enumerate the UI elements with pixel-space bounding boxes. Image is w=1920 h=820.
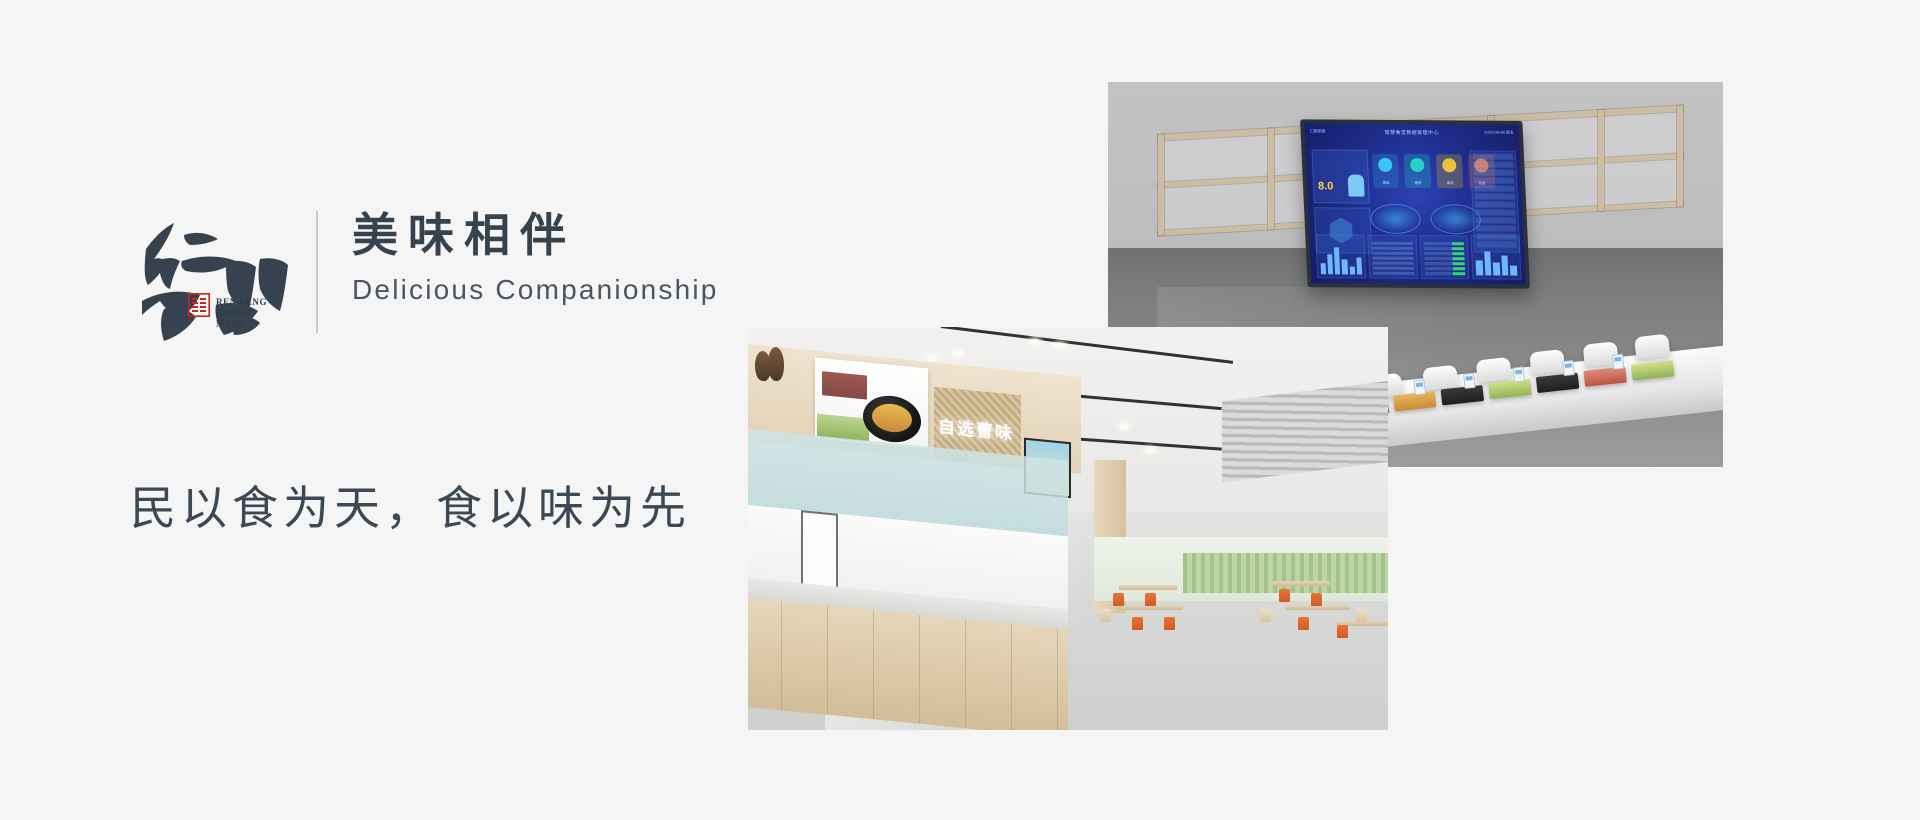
dashboard-date: 2023-09-08 周五 [1484, 130, 1514, 136]
cafeteria-service-wall: 自选曹味 [748, 327, 1081, 730]
logo-english-subtext: REN PENG GROUP MEAL [216, 297, 288, 330]
logo-english-line-3: MEAL [216, 319, 288, 330]
dining-chair [1298, 617, 1309, 630]
kpi-2-label: 营养 [1405, 181, 1431, 186]
dining-chair [1260, 609, 1271, 622]
hero-banner: REN PENG GROUP MEAL 美味相伴 Delicious Compa… [0, 0, 1920, 820]
kpi-1-label: 菜品 [1373, 181, 1399, 186]
dashboard-kpi-3: 库存 [1436, 154, 1464, 188]
dining-chair [1337, 625, 1348, 638]
green-plant-wall [1183, 553, 1388, 593]
dashboard-kpi-1: 菜品 [1372, 154, 1400, 188]
decor-vase [768, 346, 784, 382]
logo-english-line-2: GROUP [216, 308, 288, 319]
slogan-chinese: 美味相伴 [352, 211, 719, 259]
dining-chair [1279, 589, 1290, 602]
dining-chair [1356, 609, 1367, 622]
slogan-block: 美味相伴 Delicious Companionship [352, 205, 719, 306]
dining-chair [1164, 617, 1175, 630]
dining-chair [1113, 593, 1124, 606]
logo-english-line-1: REN PENG [216, 297, 288, 308]
dining-chair [1132, 617, 1143, 630]
light-box-title [821, 371, 866, 400]
slogan-english: Delicious Companionship [352, 275, 719, 306]
kpi-3-label: 库存 [1437, 181, 1463, 186]
dashboard-score-value: 8.0 [1318, 180, 1334, 192]
vertical-divider [316, 211, 318, 333]
light-box-dish-photo [862, 393, 921, 446]
dining-chair [1145, 593, 1156, 606]
dashboard-score-card: 8.0 [1311, 149, 1370, 203]
cafeteria-interior-photo: 自选曹味 [748, 327, 1388, 730]
dining-chair [1311, 593, 1322, 606]
page-headline: 民以食为天，食以味为先 [130, 472, 691, 538]
brand-block: REN PENG GROUP MEAL 美味相伴 Delicious Compa… [130, 205, 719, 345]
red-seal-stamp [188, 293, 210, 317]
dining-chair [1100, 609, 1111, 622]
chef-avatar-icon [1348, 175, 1365, 197]
menu-light-box [815, 358, 928, 450]
dashboard-kpi-2: 营养 [1404, 154, 1432, 188]
ren-peng-group-meal-logo: REN PENG GROUP MEAL [130, 205, 290, 345]
